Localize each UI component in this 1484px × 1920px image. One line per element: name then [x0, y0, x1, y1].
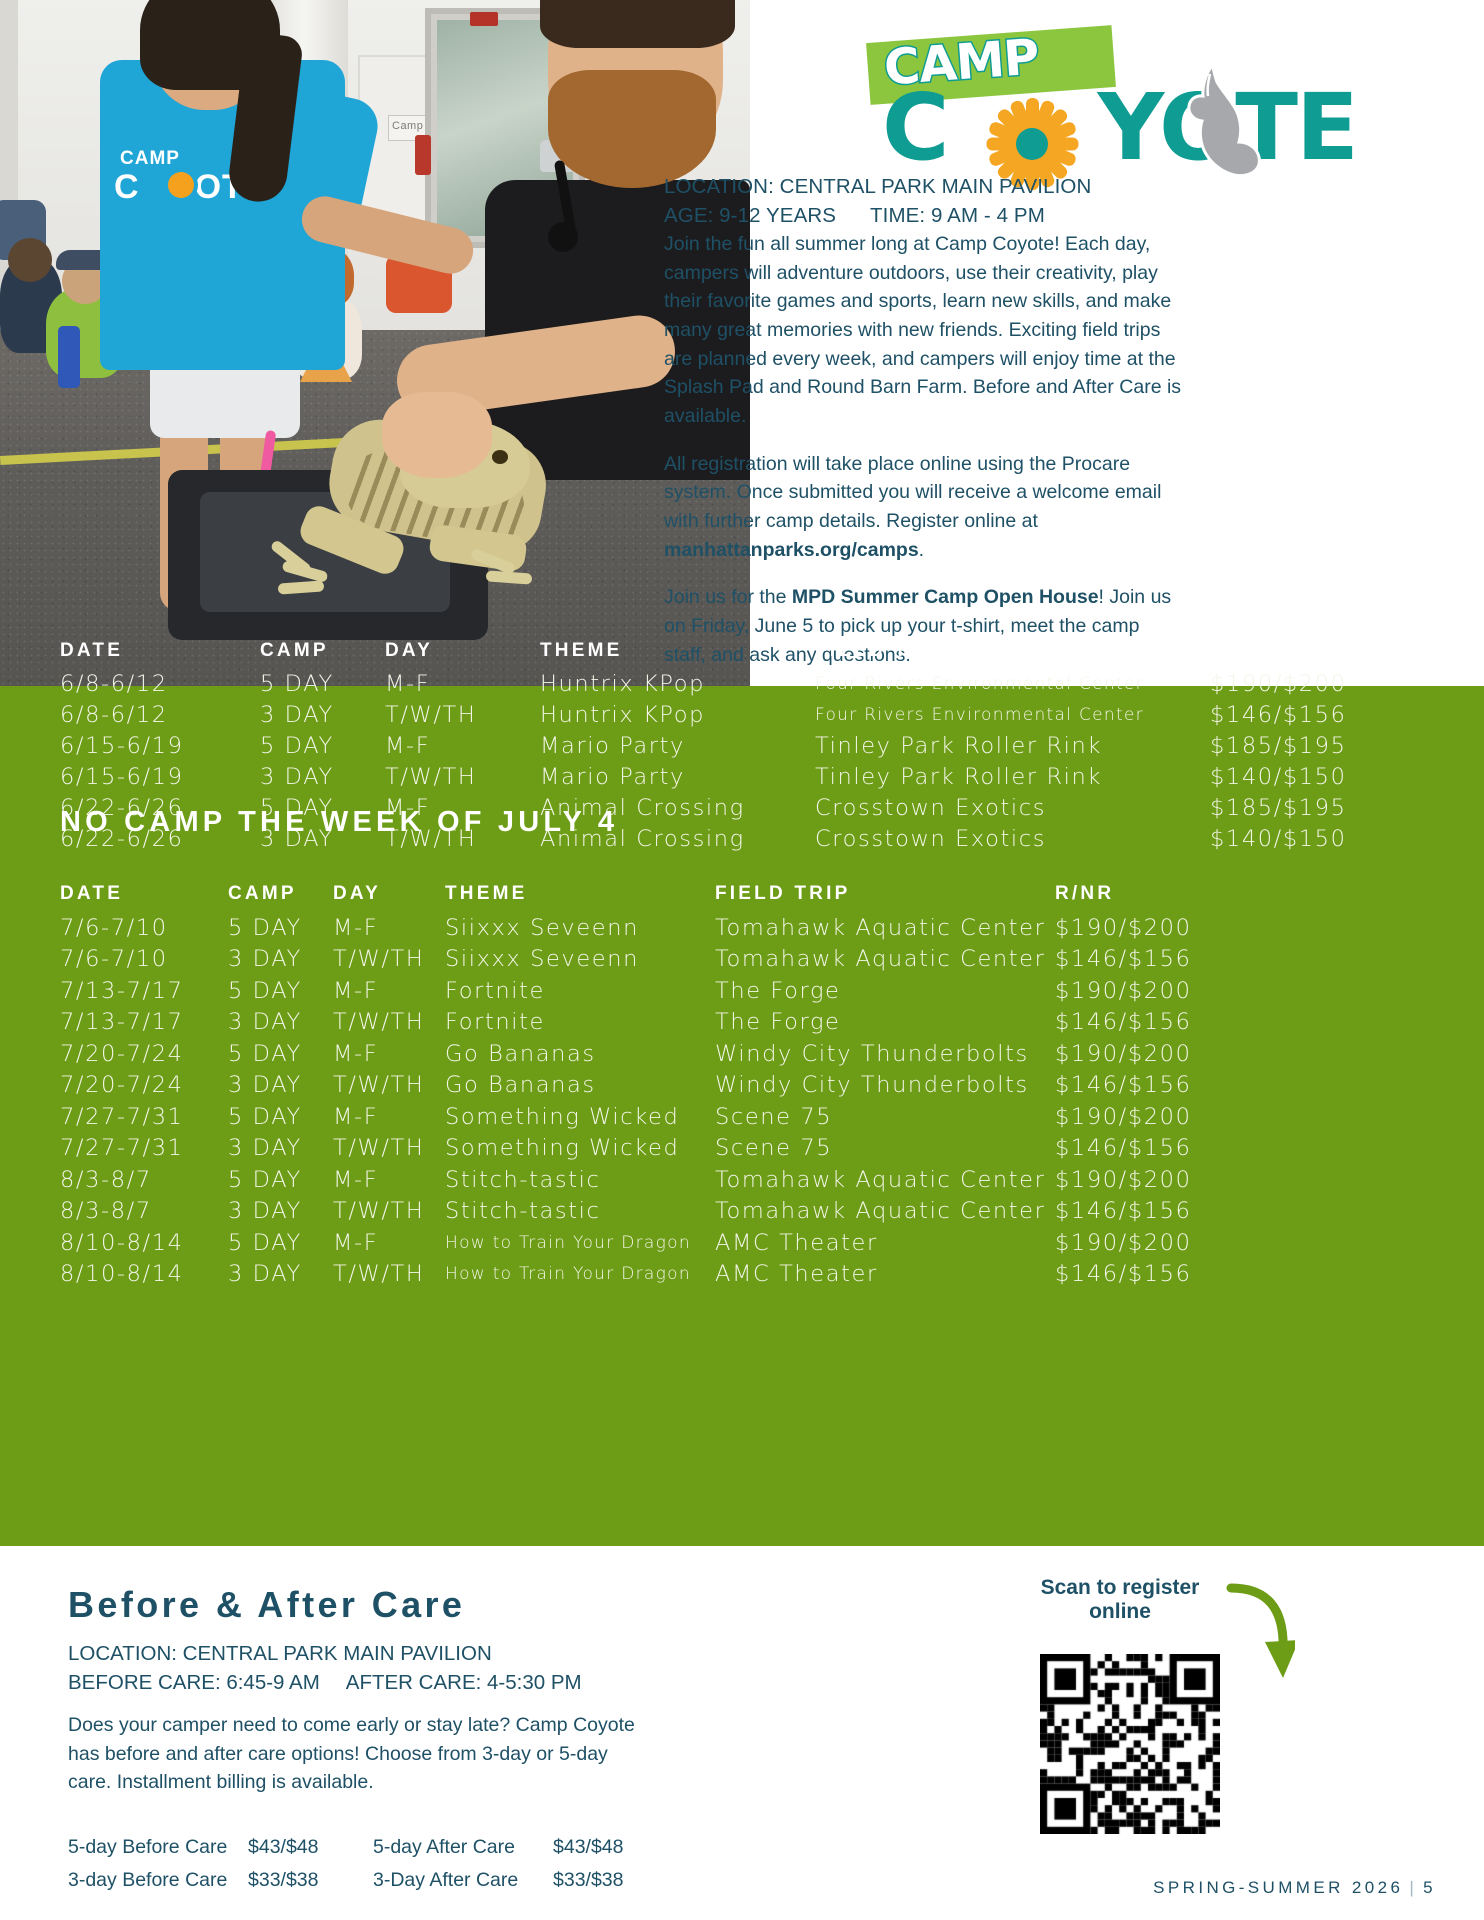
table-row: 8/3-8/75 DAYM-FStitch-tasticTomahawk Aqu…: [60, 1164, 1235, 1196]
photo-fire-extinguisher: [415, 135, 431, 175]
table-row: 8/10-8/145 DAYM-FHow to Train Your Drago…: [60, 1227, 1235, 1259]
camp-age-time: AGE: 9-12 YEARSTIME: 9 AM - 4 PM: [664, 201, 1284, 230]
cell-field-trip: Crosstown Exotics: [815, 795, 1210, 821]
cell-price: $190/$200: [1055, 1041, 1235, 1067]
july-schedule-table: DATE CAMP DAY THEME FIELD TRIP R/NR 7/6-…: [60, 876, 1235, 1290]
cell-field-trip: Tomahawk Aquatic Center: [715, 915, 1055, 941]
cell-date: 6/8-6/12: [60, 702, 260, 728]
cell-price: $185/$195: [1210, 795, 1390, 821]
hero-band: Camp CAMP C YOTE: [0, 0, 1484, 686]
footer-edition: SPRING-SUMMER 2026: [1153, 1878, 1403, 1897]
cell-price: $146/$156: [1055, 1009, 1235, 1035]
care-price-value: $33/$38: [248, 1869, 373, 1892]
cell-day: M-F: [385, 733, 540, 759]
cell-price: $190/$200: [1210, 671, 1390, 697]
openhouse-lead: Join us for the: [664, 586, 792, 608]
intro-paragraph-1: Join the fun all summer long at Camp Coy…: [664, 230, 1182, 431]
registration-url[interactable]: manhattanparks.org/camps: [664, 539, 919, 561]
cell-field-trip: Windy City Thunderbolts: [715, 1041, 1055, 1067]
cell-price: $190/$200: [1055, 1167, 1235, 1193]
table-row: 7/13-7/173 DAYT/W/THFortniteThe Forge$14…: [60, 1007, 1235, 1039]
cell-field-trip: Tinley Park Roller Rink: [815, 764, 1210, 790]
photo-exit-sign: [470, 12, 498, 26]
table-row: 8/3-8/73 DAYT/W/THStitch-tasticTomahawk …: [60, 1196, 1235, 1228]
cell-price: $190/$200: [1055, 978, 1235, 1004]
before-after-care-body: Does your camper need to come early or s…: [68, 1711, 648, 1797]
cell-field-trip: Crosstown Exotics: [815, 826, 1210, 852]
cell-camp: 5 DAY: [228, 1041, 333, 1067]
cell-field-trip: AMC Theater: [715, 1230, 1055, 1256]
cell-field-trip: AMC Theater: [715, 1261, 1055, 1287]
cell-price: $146/$156: [1055, 1135, 1235, 1161]
bac-hours: BEFORE CARE: 6:45-9 AMAFTER CARE: 4-5:30…: [68, 1668, 718, 1697]
photo-staff-beard: [548, 70, 716, 188]
cell-camp: 3 DAY: [228, 1009, 333, 1035]
cell-day: M-F: [333, 978, 445, 1004]
registration-qr-code[interactable]: [1040, 1654, 1220, 1834]
camp-coyote-logo: CAMP C YOTE: [868, 28, 1388, 168]
cell-price: $146/$156: [1055, 1072, 1235, 1098]
cell-day: T/W/TH: [333, 1009, 445, 1035]
cell-day: M-F: [333, 1104, 445, 1130]
col-header-date: DATE: [60, 640, 260, 662]
cell-field-trip: Scene 75: [715, 1135, 1055, 1161]
care-price-row: 5-day Before Care$43/$485-day After Care…: [68, 1831, 708, 1864]
cell-date: 6/15-6/19: [60, 733, 260, 759]
cell-field-trip: Windy City Thunderbolts: [715, 1072, 1055, 1098]
cell-day: M-F: [333, 1041, 445, 1067]
care-price-value: $33/$38: [553, 1869, 678, 1892]
cell-field-trip: The Forge: [715, 978, 1055, 1004]
intro-column: CAMP C YOTE LOCATION: CENTRAL PARK MAIN …: [750, 0, 1484, 686]
col-header-day: DAY: [333, 883, 445, 905]
logo-coyote-word: C YOTE: [882, 82, 1357, 174]
table-row: 6/15-6/193 DAYT/W/THMario PartyTinley Pa…: [60, 761, 1390, 792]
camp-location: LOCATION: CENTRAL PARK MAIN PAVILION: [664, 172, 1284, 201]
wolf-icon: [1166, 62, 1262, 180]
footer-separator: |: [1409, 1878, 1417, 1897]
before-after-care-title: Before & After Care: [68, 1584, 465, 1626]
table-row: 6/8-6/123 DAYT/W/THHuntrix KPopFour Rive…: [60, 699, 1390, 730]
cell-camp: 3 DAY: [260, 764, 385, 790]
table-row: 7/6-7/105 DAYM-FSiixxx SeveennTomahawk A…: [60, 912, 1235, 944]
registration-period: .: [919, 539, 924, 561]
photo-shirt-sun-icon: [168, 172, 194, 198]
cell-theme: Go Bananas: [445, 1072, 715, 1098]
cell-camp: 3 DAY: [228, 946, 333, 972]
col-header-price: R/NR: [1210, 640, 1390, 662]
cell-date: 6/15-6/19: [60, 764, 260, 790]
col-header-theme: THEME: [445, 883, 715, 905]
table-header-row: DATE CAMP DAY THEME FIELD TRIP R/NR: [60, 876, 1235, 912]
page-footer: SPRING-SUMMER 2026|5: [1153, 1878, 1436, 1898]
table-row: 7/27-7/315 DAYM-FSomething WickedScene 7…: [60, 1101, 1235, 1133]
care-price-row: 3-day Before Care$33/$383-Day After Care…: [68, 1864, 708, 1897]
cell-date: 7/6-7/10: [60, 946, 228, 972]
cell-theme: Something Wicked: [445, 1104, 715, 1130]
photo-child-head: [8, 238, 52, 282]
cell-field-trip: Scene 75: [715, 1104, 1055, 1130]
table-row: 6/15-6/195 DAYM-FMario PartyTinley Park …: [60, 730, 1390, 761]
table-row: 8/10-8/143 DAYT/W/THHow to Train Your Dr…: [60, 1259, 1235, 1291]
cell-day: T/W/TH: [333, 1261, 445, 1287]
cell-field-trip: Tinley Park Roller Rink: [815, 733, 1210, 759]
cell-day: T/W/TH: [385, 702, 540, 728]
photo-staff-hair: [540, 0, 735, 48]
schedule-section: DATE CAMP DAY THEME FIELD TRIP R/NR 6/8-…: [0, 686, 1484, 1546]
care-price-label: 3-Day After Care: [373, 1869, 553, 1892]
col-header-date: DATE: [60, 883, 228, 905]
cell-theme: Huntrix KPop: [540, 671, 815, 697]
table-row: 7/20-7/245 DAYM-FGo BananasWindy City Th…: [60, 1038, 1235, 1070]
photo-headset-mic-cap: [548, 222, 578, 252]
cell-price: $185/$195: [1210, 733, 1390, 759]
cell-day: M-F: [333, 1230, 445, 1256]
cell-camp: 3 DAY: [228, 1261, 333, 1287]
cell-camp: 3 DAY: [228, 1198, 333, 1224]
cell-theme: Fortnite: [445, 1009, 715, 1035]
care-price-label: 3-day Before Care: [68, 1869, 248, 1892]
cell-date: 7/13-7/17: [60, 1009, 228, 1035]
table-header-row: DATE CAMP DAY THEME FIELD TRIP R/NR: [60, 634, 1390, 668]
cell-theme: How to Train Your Dragon: [445, 1264, 715, 1284]
cell-date: 7/6-7/10: [60, 915, 228, 941]
cell-theme: Something Wicked: [445, 1135, 715, 1161]
cell-camp: 5 DAY: [228, 978, 333, 1004]
cell-theme: Mario Party: [540, 733, 815, 759]
col-header-day: DAY: [385, 640, 540, 662]
cell-day: M-F: [333, 915, 445, 941]
camp-time: TIME: 9 AM - 4 PM: [870, 204, 1045, 227]
table-row: 7/27-7/313 DAYT/W/THSomething WickedScen…: [60, 1133, 1235, 1165]
cell-price: $146/$156: [1055, 1261, 1235, 1287]
cell-field-trip: Tomahawk Aquatic Center: [715, 1198, 1055, 1224]
photo-sign-text: Camp: [392, 120, 423, 132]
cell-day: T/W/TH: [333, 1135, 445, 1161]
photo-iguana-eye: [492, 450, 508, 464]
photo-shirt-logo-camp: CAMP: [120, 148, 180, 170]
col-header-field-trip: FIELD TRIP: [715, 883, 1055, 905]
cell-theme: Stitch-tastic: [445, 1167, 715, 1193]
registration-text: All registration will take place online …: [664, 453, 1161, 532]
photo-water-bottle: [58, 326, 80, 388]
bac-after-time: AFTER CARE: 4-5:30 PM: [346, 1671, 582, 1694]
cell-field-trip: Four Rivers Environmental Center: [815, 674, 1210, 694]
cell-day: T/W/TH: [385, 764, 540, 790]
cell-date: 8/10-8/14: [60, 1230, 228, 1256]
cell-field-trip: The Forge: [715, 1009, 1055, 1035]
cell-date: 7/13-7/17: [60, 978, 228, 1004]
care-price-value: $43/$48: [553, 1836, 678, 1859]
care-price-label: 5-day Before Care: [68, 1836, 248, 1859]
cell-price: $190/$200: [1055, 915, 1235, 941]
cell-price: $146/$156: [1055, 1198, 1235, 1224]
cell-field-trip: Tomahawk Aquatic Center: [715, 1167, 1055, 1193]
cell-day: M-F: [333, 1167, 445, 1193]
cell-day: T/W/TH: [333, 1072, 445, 1098]
scan-line-2: online: [1020, 1600, 1220, 1624]
table-row: 7/6-7/103 DAYT/W/THSiixxx SeveennTomahaw…: [60, 944, 1235, 976]
cell-theme: Go Bananas: [445, 1041, 715, 1067]
cell-camp: 5 DAY: [260, 671, 385, 697]
cell-camp: 5 DAY: [228, 1230, 333, 1256]
cell-field-trip: Tomahawk Aquatic Center: [715, 946, 1055, 972]
cell-price: $190/$200: [1055, 1104, 1235, 1130]
cell-price: $140/$150: [1210, 764, 1390, 790]
cell-camp: 5 DAY: [228, 915, 333, 941]
cell-theme: How to Train Your Dragon: [445, 1233, 715, 1253]
table-row: 7/13-7/175 DAYM-FFortniteThe Forge$190/$…: [60, 975, 1235, 1007]
no-camp-notice: NO CAMP THE WEEK OF JULY 4: [60, 806, 618, 839]
care-price-label: 5-day After Care: [373, 1836, 553, 1859]
cell-theme: Siixxx Seveenn: [445, 915, 715, 941]
care-price-value: $43/$48: [248, 1836, 373, 1859]
cell-theme: Siixxx Seveenn: [445, 946, 715, 972]
intro-paragraph-2: All registration will take place online …: [664, 450, 1182, 565]
cell-theme: Mario Party: [540, 764, 815, 790]
cell-date: 8/3-8/7: [60, 1198, 228, 1224]
cell-price: $190/$200: [1055, 1230, 1235, 1256]
cell-price: $146/$156: [1210, 702, 1390, 728]
cell-theme: Fortnite: [445, 978, 715, 1004]
cell-price: $140/$150: [1210, 826, 1390, 852]
cell-camp: 5 DAY: [260, 733, 385, 759]
camp-photo: Camp CAMP C YOTE: [0, 0, 750, 686]
before-after-care-section: Before & After Care LOCATION: CENTRAL PA…: [0, 1546, 1484, 1920]
bac-before-time: BEFORE CARE: 6:45-9 AM: [68, 1671, 320, 1694]
cell-day: T/W/TH: [333, 946, 445, 972]
camp-age: AGE: 9-12 YEARS: [664, 204, 836, 227]
cell-date: 8/3-8/7: [60, 1167, 228, 1193]
col-header-field-trip: FIELD TRIP: [815, 640, 1210, 662]
cell-theme: Stitch-tastic: [445, 1198, 715, 1224]
before-after-care-meta: LOCATION: CENTRAL PARK MAIN PAVILION BEF…: [68, 1639, 718, 1697]
bac-location: LOCATION: CENTRAL PARK MAIN PAVILION: [68, 1639, 718, 1668]
camp-meta: LOCATION: CENTRAL PARK MAIN PAVILION AGE…: [664, 172, 1284, 230]
cell-camp: 3 DAY: [228, 1072, 333, 1098]
scan-line-1: Scan to register: [1020, 1576, 1220, 1600]
col-header-camp: CAMP: [260, 640, 385, 662]
scan-prompt: Scan to register online: [1020, 1576, 1220, 1624]
cell-theme: Huntrix KPop: [540, 702, 815, 728]
cell-day: T/W/TH: [333, 1198, 445, 1224]
cell-date: 6/8-6/12: [60, 671, 260, 697]
col-header-price: R/NR: [1055, 883, 1235, 905]
photo-staff-hand: [382, 392, 492, 478]
cell-date: 8/10-8/14: [60, 1261, 228, 1287]
cell-camp: 3 DAY: [228, 1135, 333, 1161]
footer-page-number: 5: [1423, 1878, 1436, 1897]
cell-price: $146/$156: [1055, 946, 1235, 972]
cell-camp: 5 DAY: [228, 1167, 333, 1193]
cell-field-trip: Four Rivers Environmental Center: [815, 705, 1210, 725]
col-header-camp: CAMP: [228, 883, 333, 905]
cell-date: 7/27-7/31: [60, 1104, 228, 1130]
col-header-theme: THEME: [540, 640, 815, 662]
cell-day: M-F: [385, 671, 540, 697]
cell-date: 7/20-7/24: [60, 1072, 228, 1098]
cell-camp: 5 DAY: [228, 1104, 333, 1130]
care-price-table: 5-day Before Care$43/$485-day After Care…: [68, 1831, 708, 1897]
cell-date: 7/20-7/24: [60, 1041, 228, 1067]
openhouse-name: MPD Summer Camp Open House: [792, 586, 1099, 608]
cell-date: 7/27-7/31: [60, 1135, 228, 1161]
table-row: 6/8-6/125 DAYM-FHuntrix KPopFour Rivers …: [60, 668, 1390, 699]
cell-camp: 3 DAY: [260, 702, 385, 728]
intro-copy: Join the fun all summer long at Camp Coy…: [664, 230, 1182, 688]
table-row: 7/20-7/243 DAYT/W/THGo BananasWindy City…: [60, 1070, 1235, 1102]
curved-arrow-icon: [1225, 1582, 1295, 1692]
